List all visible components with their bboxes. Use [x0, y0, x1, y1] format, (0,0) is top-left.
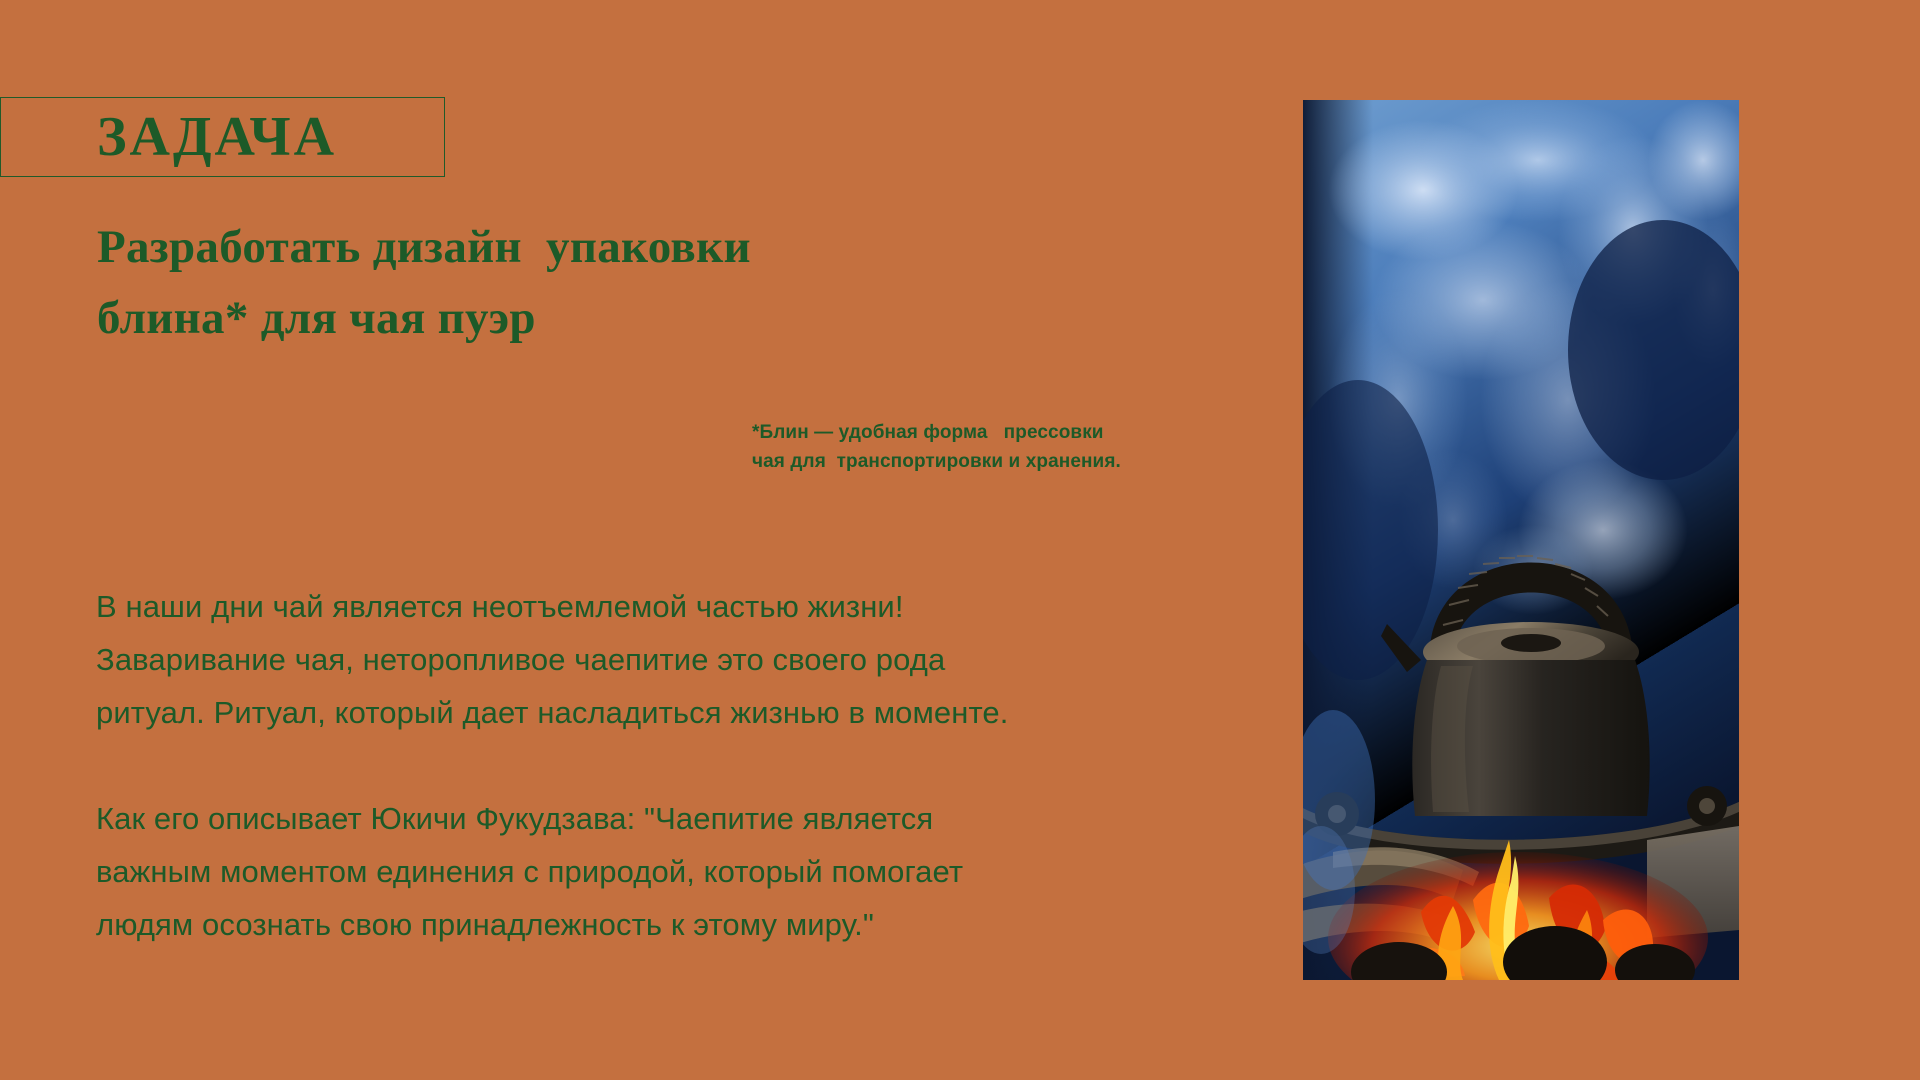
headline-line-2: блина* для чая пуэр	[97, 283, 1147, 354]
paragraph-2-line-3: людям осознать свою принадлежность к это…	[96, 898, 1246, 951]
headline: Разработать дизайн упаковки блина* для ч…	[97, 212, 1147, 355]
body-copy: В наши дни чай является неотъемлемой час…	[96, 580, 1246, 951]
paragraph-1-line-3: ритуал. Ритуал, который дает насладиться…	[96, 686, 1246, 739]
kettle-over-fire-photo	[1303, 100, 1739, 980]
footnote-line-2: чая для транспортировки и хранения.	[752, 447, 1272, 476]
paragraph-1-line-1: В наши дни чай является неотъемлемой час…	[96, 580, 1246, 633]
paragraph-1: В наши дни чай является неотъемлемой час…	[96, 580, 1246, 739]
footnote-line-1: *Блин — удобная форма прессовки	[752, 418, 1272, 447]
page-title: ЗАДАЧА	[97, 97, 447, 177]
photo-illustration	[1303, 100, 1739, 980]
paragraph-2-line-2: важным моментом единения с природой, кот…	[96, 845, 1246, 898]
paragraph-1-line-2: Заваривание чая, неторопливое чаепитие э…	[96, 633, 1246, 686]
slide: ЗАДАЧА Разработать дизайн упаковки блина…	[0, 0, 1920, 1080]
footnote: *Блин — удобная форма прессовки чая для …	[752, 418, 1272, 477]
paragraph-2: Как его описывает Юкичи Фукудзава: "Чаеп…	[96, 792, 1246, 951]
headline-line-1: Разработать дизайн упаковки	[97, 212, 1147, 283]
paragraph-2-line-1: Как его описывает Юкичи Фукудзава: "Чаеп…	[96, 792, 1246, 845]
